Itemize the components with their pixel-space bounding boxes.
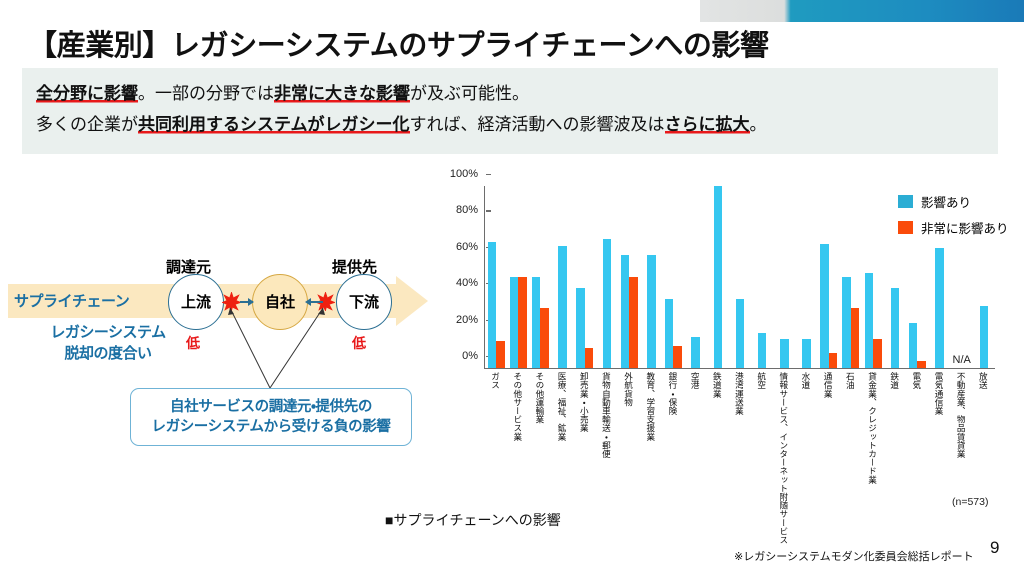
bar-group	[773, 186, 795, 368]
legend-item-eikyo-ari: 影響あり	[898, 192, 1009, 211]
bar-group	[662, 186, 684, 368]
bar-eikyo-ari	[488, 242, 497, 368]
bar-group	[685, 186, 707, 368]
x-axis-label: 銀行・保険	[661, 372, 683, 544]
x-axis-label: 鉄道	[883, 372, 905, 544]
x-axis-label: 貨物自動車輸送・郵便	[595, 372, 617, 544]
source-note: ※レガシーシステムモダン化委員会総括レポート	[734, 548, 974, 564]
bar-group	[862, 186, 884, 368]
x-axis-label-text: 貨物自動車輸送・郵便	[601, 372, 610, 544]
x-axis-label: 航空	[750, 372, 772, 544]
x-axis-label: 通信業	[817, 372, 839, 544]
supply-chain-label: サプライチェーン	[14, 290, 129, 311]
bar-hijoni-eikyo-ari	[873, 339, 882, 368]
bar-eikyo-ari	[980, 306, 989, 368]
bar-eikyo-ari	[820, 244, 829, 368]
bar-hijoni-eikyo-ari	[917, 361, 926, 368]
summary-line-2-run-4: 。	[750, 115, 767, 134]
x-axis-label: 卸売業・小売業	[573, 372, 595, 544]
x-axis-label: 貸金業、クレジットカード業	[861, 372, 883, 544]
bar-group	[507, 186, 529, 368]
bar-eikyo-ari	[603, 239, 612, 368]
x-axis-label-text: 航空	[757, 372, 766, 544]
x-axis-label-text: 水道	[801, 372, 810, 544]
bar-group	[596, 186, 618, 368]
bar-group	[552, 186, 574, 368]
x-axis-label: 不動産業、物品賃貸業	[950, 372, 972, 544]
x-axis-label-text: 通信業	[823, 372, 832, 544]
bar-group	[485, 186, 507, 368]
bar-group	[729, 186, 751, 368]
callout-connector-lines	[120, 300, 420, 400]
bar-eikyo-ari	[935, 248, 944, 368]
bar-eikyo-ari	[802, 339, 811, 368]
x-axis-label: 鉄道業	[706, 372, 728, 544]
legend-label-blue: 影響あり	[921, 192, 971, 211]
bar-hijoni-eikyo-ari	[518, 277, 527, 368]
x-axis-label-text: 電気	[912, 372, 921, 544]
bar-group	[818, 186, 840, 368]
bar-eikyo-ari	[891, 288, 900, 368]
x-axis-label: 放送	[972, 372, 994, 544]
legend-swatch-orange	[898, 221, 913, 234]
bar-eikyo-ari	[780, 339, 789, 368]
bar-eikyo-ari	[510, 277, 519, 368]
bar-eikyo-ari	[621, 255, 630, 368]
x-axis-label-text: 港湾運送業	[734, 372, 743, 544]
x-axis-label-text: 電気通信業	[934, 372, 943, 544]
summary-line-2-run-1: 共同利用するシステムがレガシー化	[138, 115, 410, 134]
bar-eikyo-ari	[736, 299, 745, 368]
bar-eikyo-ari	[714, 186, 723, 368]
summary-line-1-run-2: 非常に大きな影響	[274, 84, 410, 103]
y-tick-100pct: 100%	[450, 168, 485, 180]
bar-eikyo-ari	[665, 299, 674, 368]
bar-eikyo-ari	[647, 255, 656, 368]
x-axis-label-text: 空港	[690, 372, 699, 544]
x-axis-label: 港湾運送業	[728, 372, 750, 544]
x-axis-label-text: 鉄道業	[712, 372, 721, 544]
x-axis-label: 電気	[905, 372, 927, 544]
summary-line-2-run-2: すれば、経済活動への影響波及は	[410, 115, 665, 134]
bar-hijoni-eikyo-ari	[585, 348, 594, 368]
x-axis-label: 水道	[794, 372, 816, 544]
page-number: 9	[990, 538, 999, 558]
x-axis-label-text: 外航貨物	[624, 372, 633, 544]
x-axis-label-text: 鉄道	[890, 372, 899, 544]
bar-eikyo-ari	[576, 288, 585, 368]
bar-group	[707, 186, 729, 368]
bar-hijoni-eikyo-ari	[673, 346, 682, 368]
page-title: 【産業別】レガシーシステムのサプライチェーンへの影響	[28, 22, 988, 64]
x-axis-label: 石油	[839, 372, 861, 544]
bar-eikyo-ari	[532, 277, 541, 368]
x-axis-label-text: 教育、学習支援業	[646, 372, 655, 544]
bar-hijoni-eikyo-ari	[540, 308, 549, 368]
x-axis-label-text: 銀行・保険	[668, 372, 677, 544]
summary-line-1-run-0: 全分野に影響	[36, 84, 138, 103]
bar-eikyo-ari	[558, 246, 567, 368]
y-tick-80pct: 80%	[456, 204, 485, 216]
x-axis-label-text: 石油	[845, 372, 854, 544]
bar-group	[640, 186, 662, 368]
bar-group	[795, 186, 817, 368]
x-axis-label-text: 情報サービス、インターネット附随サービス	[779, 372, 788, 544]
chart-legend: 影響あり 非常に影響あり	[898, 192, 1009, 244]
bar-hijoni-eikyo-ari	[629, 277, 638, 368]
summary-line-1: 全分野に影響。一部の分野では非常に大きな影響が及ぶ可能性。	[36, 78, 984, 109]
x-axis-label-text: 貸金業、クレジットカード業	[868, 372, 877, 544]
industry-impact-chart: 0%20%40%60%80%100% N/A ガスその他サービス業その他運輸業医…	[432, 178, 1024, 508]
na-annotation: N/A	[953, 354, 971, 366]
summary-line-2-run-0: 多くの企業が	[36, 115, 138, 134]
summary-line-2: 多くの企業が共同利用するシステムがレガシー化すれば、経済活動への影響波及はさらに…	[36, 109, 984, 140]
bar-group	[529, 186, 551, 368]
summary-line-2-run-3: さらに拡大	[665, 115, 750, 134]
callout-box: 自社サービスの調達元・提供先の レガシーシステムから受ける負の影響	[130, 388, 412, 446]
bar-eikyo-ari	[909, 323, 918, 369]
x-axis-label-text: 卸売業・小売業	[579, 372, 588, 544]
bar-group	[840, 186, 862, 368]
x-axis-label: 情報サービス、インターネット附随サービス	[772, 372, 794, 544]
legend-swatch-blue	[898, 195, 913, 208]
bar-eikyo-ari	[691, 337, 700, 368]
y-tick-20pct: 20%	[456, 314, 485, 326]
x-axis-label: 教育、学習支援業	[639, 372, 661, 544]
bar-group	[751, 186, 773, 368]
x-axis-label-text: 放送	[978, 372, 987, 544]
summary-line-1-run-3: が及ぶ可能性。	[410, 84, 529, 103]
x-axis-label: 外航貨物	[617, 372, 639, 544]
callout-line-2: レガシーシステムから受ける負の影響	[152, 417, 391, 437]
summary-line-1-run-1: 。一部の分野では	[138, 84, 274, 103]
x-axis-label-text: 不動産業、物品賃貸業	[956, 372, 965, 544]
header-accent-bar	[700, 0, 1024, 22]
supply-chain-diagram: 調達元 提供先 サプライチェーン レガシーシステム脱却の度合い 上流 自社 下流…	[0, 170, 440, 530]
y-tick-40pct: 40%	[456, 277, 485, 289]
bar-hijoni-eikyo-ari	[829, 353, 838, 368]
bar-hijoni-eikyo-ari	[496, 341, 505, 368]
x-axis-label: 空港	[684, 372, 706, 544]
bar-eikyo-ari	[865, 273, 874, 368]
y-tick-0pct: 0%	[462, 350, 485, 362]
bar-eikyo-ari	[842, 277, 851, 368]
summary-box: 全分野に影響。一部の分野では非常に大きな影響が及ぶ可能性。 多くの企業が共同利用…	[22, 68, 998, 154]
bar-group	[574, 186, 596, 368]
y-tick-60pct: 60%	[456, 241, 485, 253]
bar-group	[618, 186, 640, 368]
callout-line-1: 自社サービスの調達元・提供先の	[170, 397, 372, 417]
bar-hijoni-eikyo-ari	[851, 308, 860, 368]
legend-item-hijoni-eikyo-ari: 非常に影響あり	[898, 218, 1009, 237]
legend-label-orange: 非常に影響あり	[921, 218, 1009, 237]
sample-size-note: (n=573)	[952, 496, 988, 508]
x-axis-label: 電気通信業	[927, 372, 949, 544]
chart-caption: ■サプライチェーンへの影響	[385, 510, 561, 530]
bar-eikyo-ari	[758, 333, 767, 368]
